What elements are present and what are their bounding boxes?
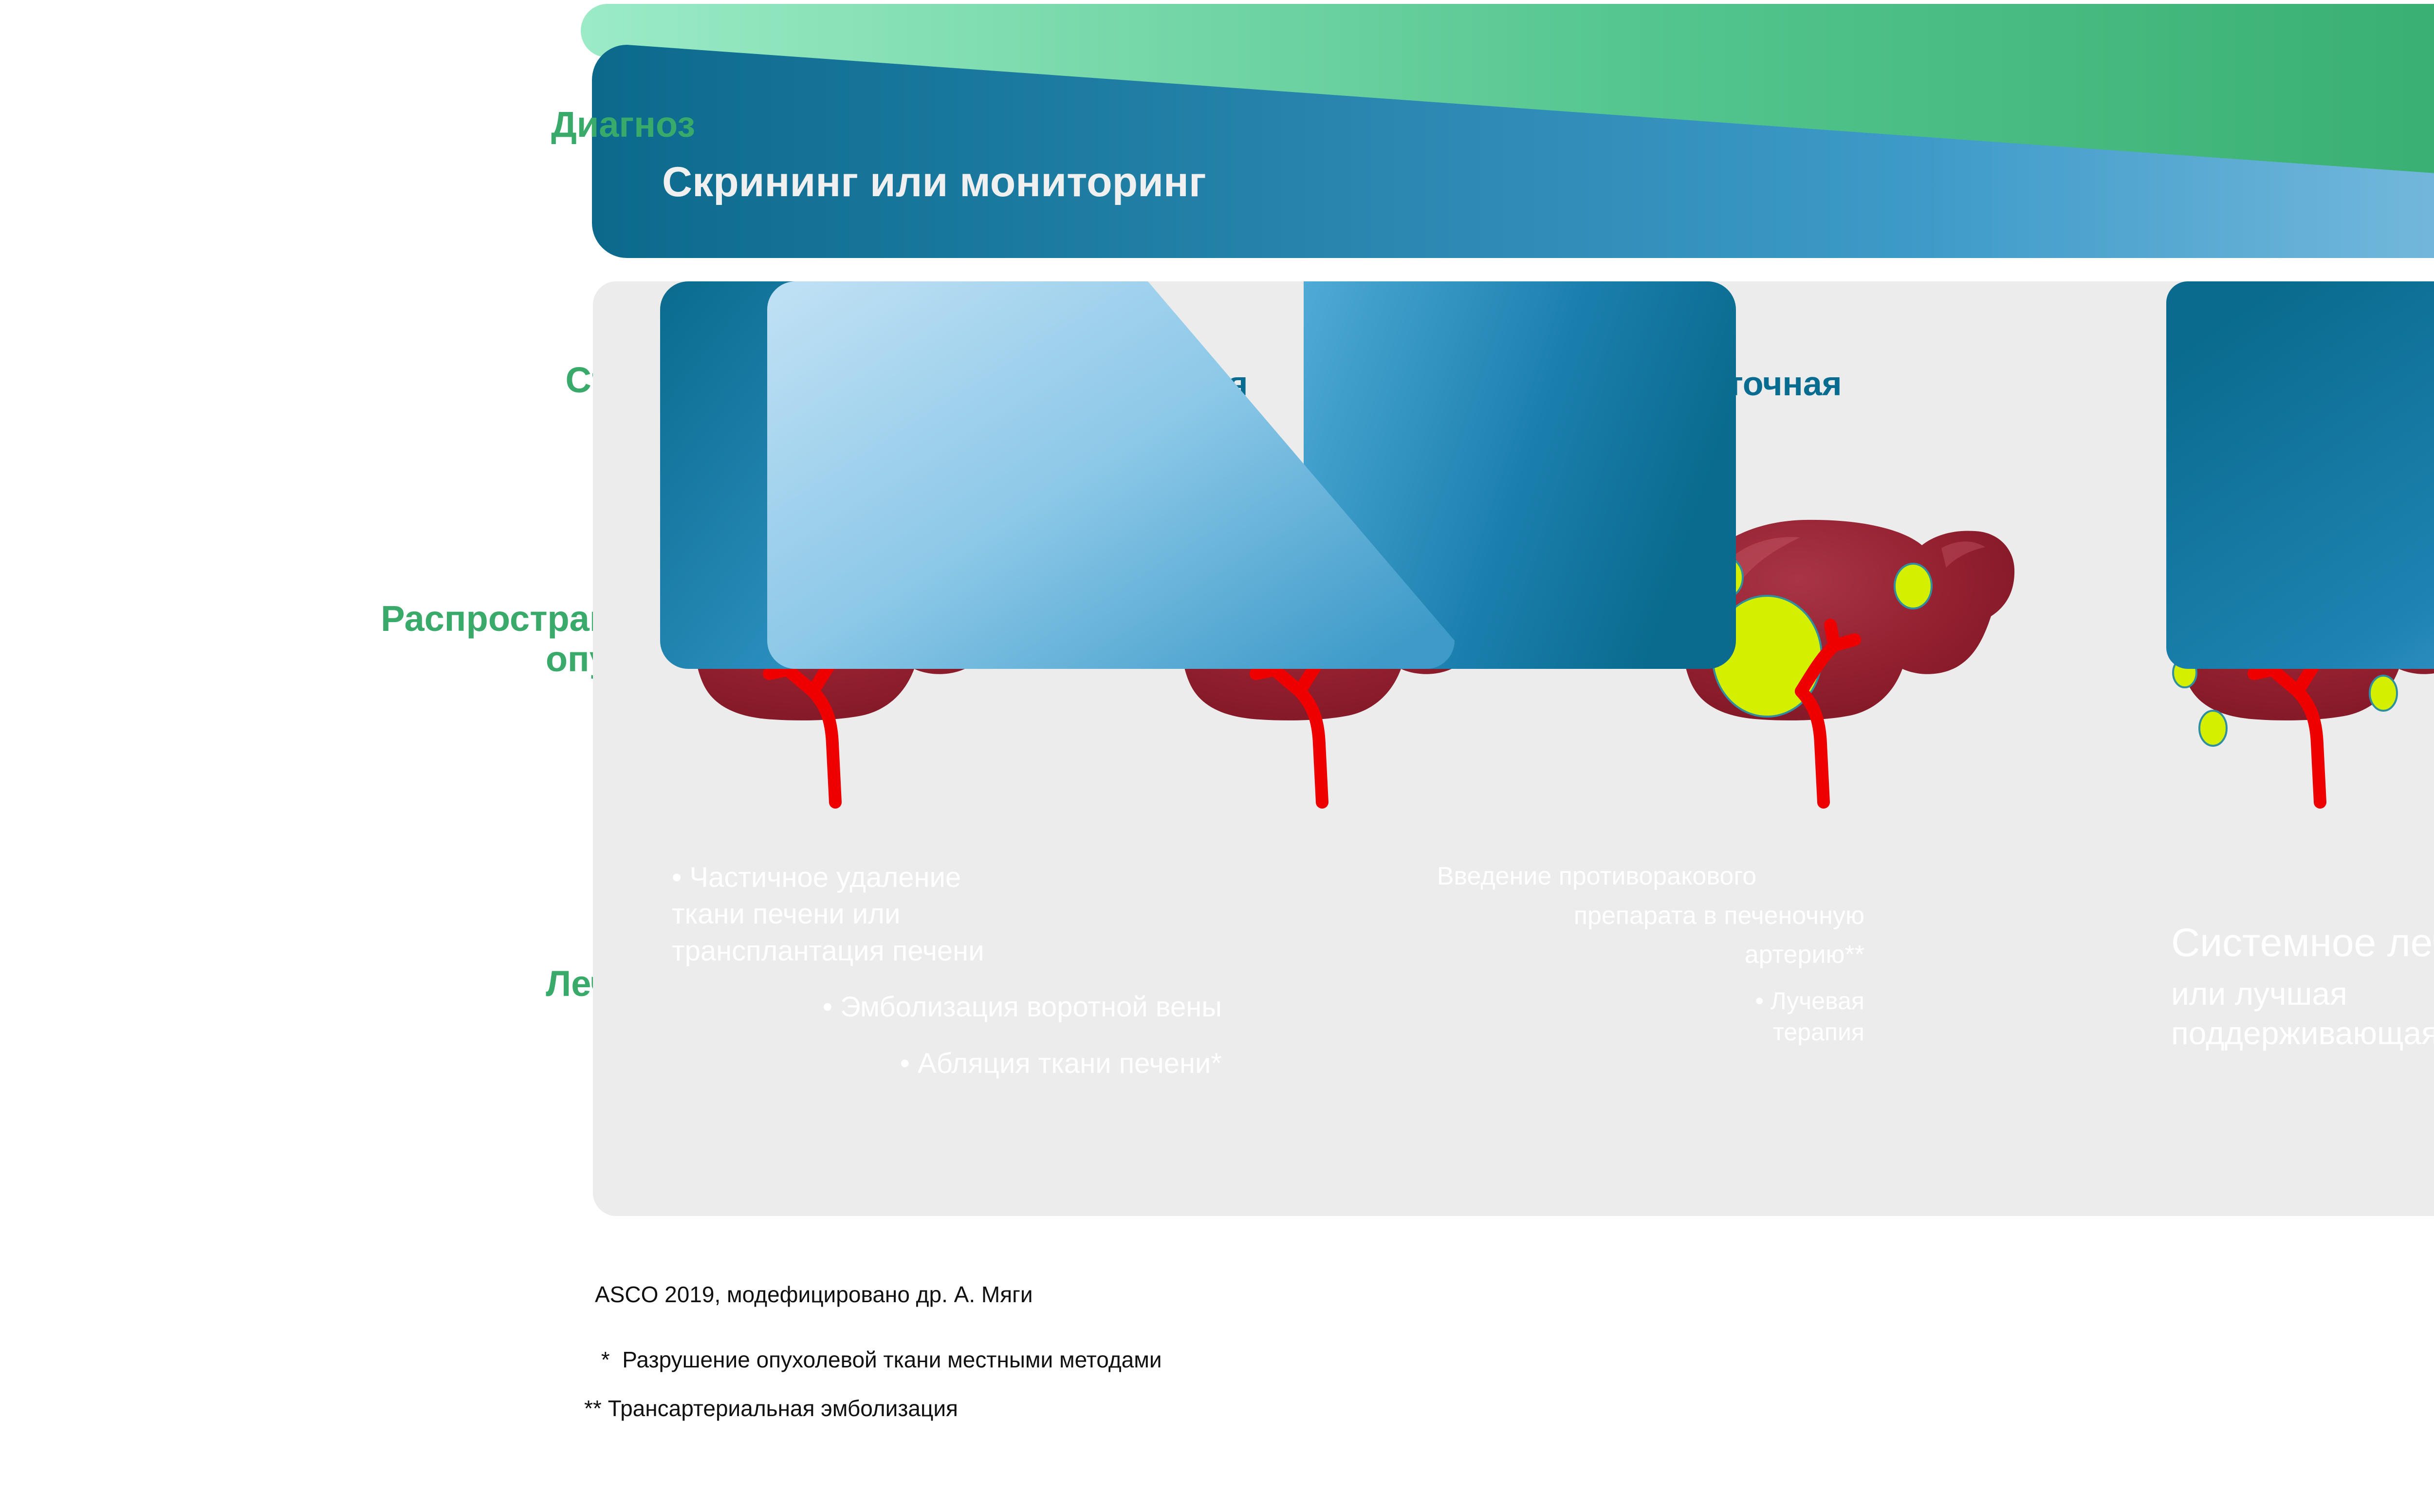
treatment-item-best-supportive-line2: поддерживающая терапия xyxy=(2171,1014,2434,1053)
treatment-item-resection: • Частичное удаление ткани печени или тр… xyxy=(672,859,1222,969)
treatment-box-3-text: Системное лечение или лучшая поддерживаю… xyxy=(2171,920,2434,1053)
treatment-item-intraarterial-line3: артерию** xyxy=(1329,935,1864,975)
treatment-item-systemic-therapy: Системное лечение xyxy=(2171,920,2434,965)
treatment-item-ablation: • Абляция ткани печени* xyxy=(672,1045,1222,1082)
treatment-item-intraarterial-line2: препарата в печеночную xyxy=(1329,896,1864,936)
treatment-item-radiotherapy: • Лучевая терапия xyxy=(1329,985,1864,1048)
treatment-box-1-text: • Частичное удаление ткани печени или тр… xyxy=(672,859,1222,1082)
treatment-box-3-shape xyxy=(2166,281,2434,669)
treatment-item-portal-vein-embolization: • Эмболизация воротной вены xyxy=(672,989,1222,1025)
treatment-box-2-text: Введение противоракового препарата в печ… xyxy=(1329,857,1864,1048)
footnote-single-asterisk: * Разрушение опухолевой ткани местными м… xyxy=(595,1346,1162,1373)
row-label-diagnosis: Диагноз xyxy=(551,105,695,145)
treatment-item-best-supportive-line1: или лучшая xyxy=(2171,974,2434,1014)
footnote-double-asterisk: ** Трансартериальная эмболизация xyxy=(584,1395,958,1422)
diagnosis-bands: Симптомы Скрининг или мониторинг xyxy=(0,0,2434,292)
screening-band-label: Скрининг или мониторинг xyxy=(662,158,1206,206)
treatment-item-intraarterial-line1: Введение противоракового xyxy=(1329,857,1864,896)
footer-source: ASCO 2019, модефицировано др. А. Мяги xyxy=(595,1281,1033,1308)
